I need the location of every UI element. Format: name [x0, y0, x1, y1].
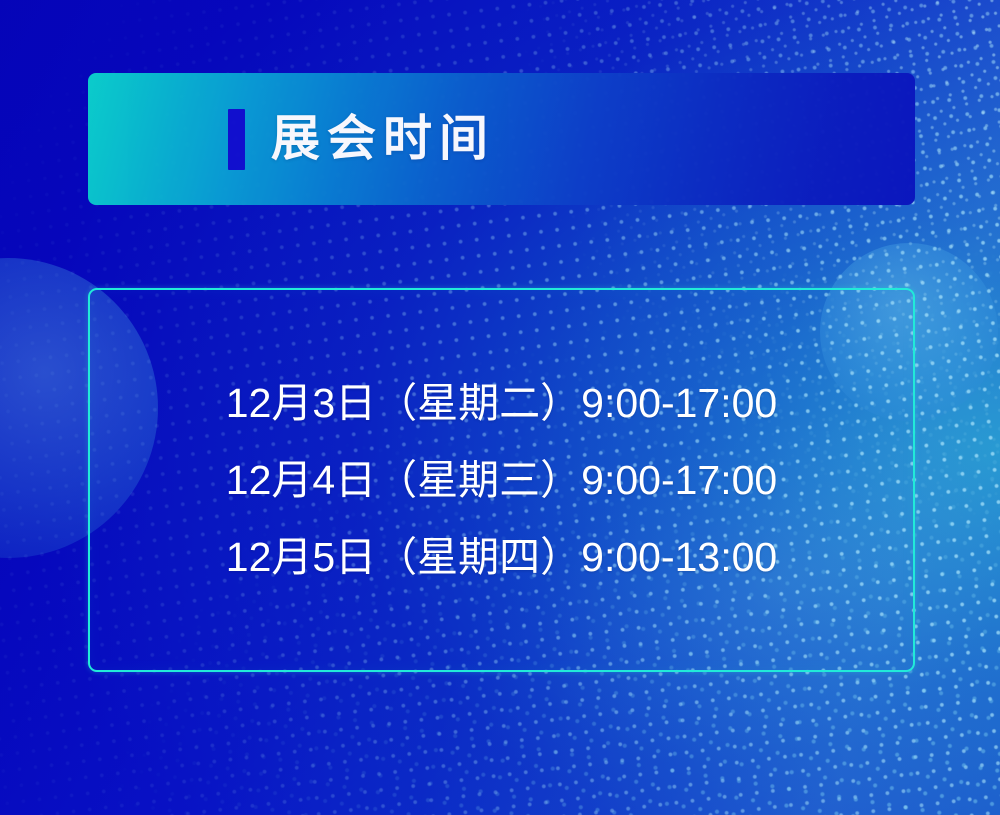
- header-title-row: 展会时间: [228, 73, 495, 205]
- schedule-list: 12月3日（星期二）9:00-17:00 12月4日（星期三）9:00-17:0…: [88, 288, 915, 672]
- header-banner: 展会时间: [88, 73, 915, 205]
- title-accent-bar: [228, 109, 245, 170]
- schedule-line-2: 12月4日（星期三）9:00-17:00: [226, 460, 777, 501]
- schedule-line-3: 12月5日（星期四）9:00-13:00: [226, 537, 777, 578]
- schedule-line-1: 12月3日（星期二）9:00-17:00: [226, 383, 777, 424]
- exhibition-time-poster: 展会时间 12月3日（星期二）9:00-17:00 12月4日（星期三）9:00…: [0, 0, 1000, 815]
- page-title: 展会时间: [271, 115, 495, 164]
